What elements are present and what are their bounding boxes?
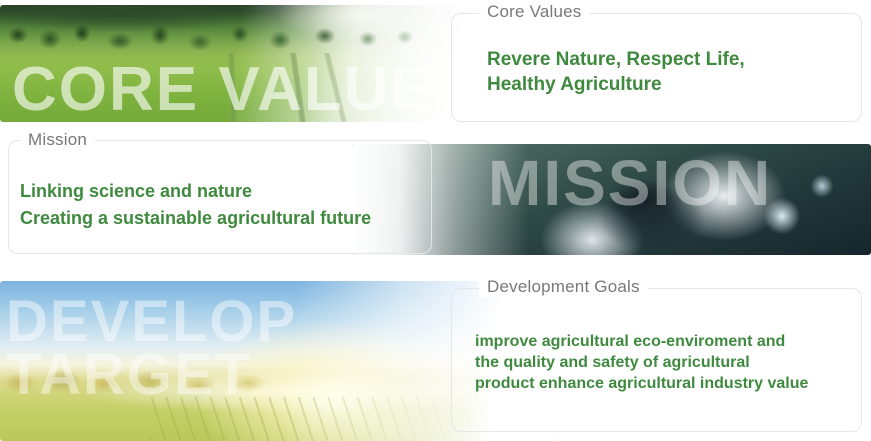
treeline-decoration: [0, 365, 300, 399]
mission-watermark-text: MISSION: [488, 154, 772, 213]
mission-body-text: Linking science and nature Creating a su…: [20, 178, 420, 232]
mission-legend: Mission: [20, 130, 95, 150]
core-values-mission-goals-board: CORE VALUE Core Values Revere Nature, Re…: [0, 0, 871, 441]
development-goals-legend: Development Goals: [479, 277, 648, 297]
field-tracks-decoration: [120, 53, 480, 122]
development-goals-body-text: improve agricultural eco-enviroment and …: [475, 331, 855, 394]
core-values-body-text: Revere Nature, Respect Life, Healthy Agr…: [487, 47, 847, 97]
core-values-legend: Core Values: [479, 2, 590, 22]
